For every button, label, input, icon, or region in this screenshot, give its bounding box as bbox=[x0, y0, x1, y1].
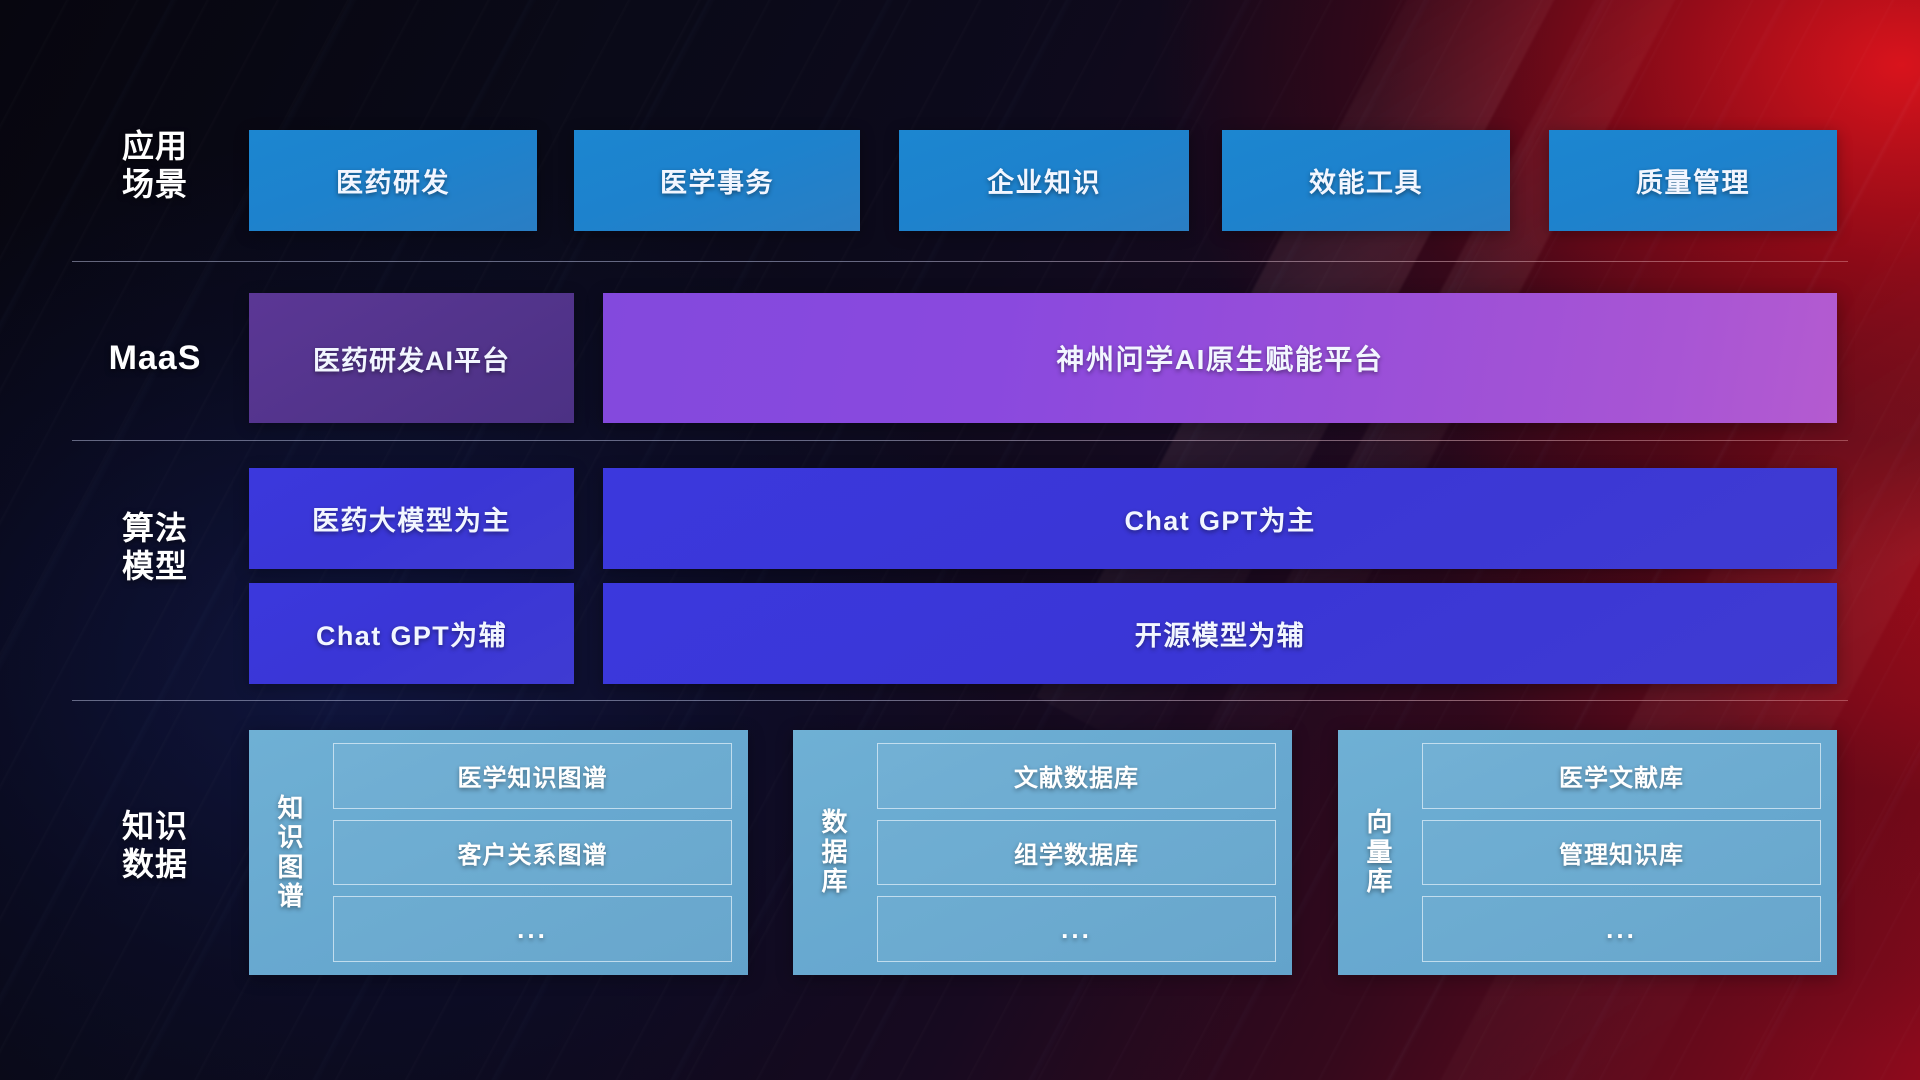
knowledge-item[interactable]: 文献数据库 bbox=[877, 743, 1276, 809]
knowledge-card-vector[interactable]: 向 量 库 医学文献库 管理知识库 ... bbox=[1338, 730, 1837, 975]
knowledge-card-database-items: 文献数据库 组学数据库 ... bbox=[867, 743, 1276, 962]
vlabel-char: 库 bbox=[821, 867, 848, 896]
row-label-algorithm: 算法 模型 bbox=[80, 510, 230, 586]
knowledge-item-more[interactable]: ... bbox=[333, 896, 732, 962]
row-label-maas: MaaS bbox=[80, 338, 230, 378]
knowledge-card-graph-items: 医学知识图谱 客户关系图谱 ... bbox=[323, 743, 732, 962]
knowledge-item-more[interactable]: ... bbox=[877, 896, 1276, 962]
vlabel-char: 量 bbox=[1366, 838, 1393, 867]
vlabel-char: 数 bbox=[821, 808, 848, 837]
divider-algorithm-knowledge bbox=[72, 700, 1848, 701]
row-label-algorithm-line1: 算法 bbox=[80, 510, 230, 548]
diagram-canvas: 应用 场景 医药研发 医学事务 企业知识 效能工具 质量管理 MaaS 医药研发… bbox=[0, 0, 1920, 1080]
vlabel-char: 谱 bbox=[277, 882, 304, 911]
vlabel-char: 据 bbox=[821, 838, 848, 867]
knowledge-card-graph[interactable]: 知 识 图 谱 医学知识图谱 客户关系图谱 ... bbox=[249, 730, 748, 975]
application-box-1[interactable]: 医药研发 bbox=[249, 130, 537, 231]
knowledge-card-graph-vertical-label: 知 识 图 谱 bbox=[259, 743, 323, 962]
knowledge-item[interactable]: 医学知识图谱 bbox=[333, 743, 732, 809]
application-box-5[interactable]: 质量管理 bbox=[1549, 130, 1837, 231]
knowledge-item[interactable]: 客户关系图谱 bbox=[333, 820, 732, 886]
row-label-knowledge-line1: 知识 bbox=[80, 808, 230, 846]
row-label-application: 应用 场景 bbox=[80, 128, 230, 204]
knowledge-item-more[interactable]: ... bbox=[1422, 896, 1821, 962]
algorithm-secondary-left-box[interactable]: Chat GPT为辅 bbox=[249, 583, 574, 684]
knowledge-item[interactable]: 医学文献库 bbox=[1422, 743, 1821, 809]
row-label-application-line1: 应用 bbox=[80, 128, 230, 166]
row-label-knowledge: 知识 数据 bbox=[80, 808, 230, 884]
row-label-maas-text: MaaS bbox=[80, 338, 230, 378]
maas-right-box[interactable]: 神州问学AI原生赋能平台 bbox=[603, 293, 1837, 423]
divider-application-maas bbox=[72, 261, 1848, 262]
row-label-algorithm-line2: 模型 bbox=[80, 548, 230, 586]
knowledge-item[interactable]: 管理知识库 bbox=[1422, 820, 1821, 886]
vlabel-char: 库 bbox=[1366, 867, 1393, 896]
algorithm-secondary-right-box[interactable]: 开源模型为辅 bbox=[603, 583, 1837, 684]
vlabel-char: 图 bbox=[277, 853, 304, 882]
row-label-application-line2: 场景 bbox=[80, 166, 230, 204]
application-box-4[interactable]: 效能工具 bbox=[1222, 130, 1510, 231]
vlabel-char: 知 bbox=[277, 794, 304, 823]
application-box-3[interactable]: 企业知识 bbox=[899, 130, 1189, 231]
maas-left-box[interactable]: 医药研发AI平台 bbox=[249, 293, 574, 423]
row-label-knowledge-line2: 数据 bbox=[80, 846, 230, 884]
application-box-2[interactable]: 医学事务 bbox=[574, 130, 860, 231]
knowledge-card-vector-vertical-label: 向 量 库 bbox=[1348, 743, 1412, 962]
algorithm-primary-right-box[interactable]: Chat GPT为主 bbox=[603, 468, 1837, 569]
knowledge-card-database[interactable]: 数 据 库 文献数据库 组学数据库 ... bbox=[793, 730, 1292, 975]
vlabel-char: 识 bbox=[277, 823, 304, 852]
knowledge-item[interactable]: 组学数据库 bbox=[877, 820, 1276, 886]
knowledge-card-database-vertical-label: 数 据 库 bbox=[803, 743, 867, 962]
vlabel-char: 向 bbox=[1366, 808, 1393, 837]
knowledge-card-vector-items: 医学文献库 管理知识库 ... bbox=[1412, 743, 1821, 962]
divider-maas-algorithm bbox=[72, 440, 1848, 441]
algorithm-primary-left-box[interactable]: 医药大模型为主 bbox=[249, 468, 574, 569]
